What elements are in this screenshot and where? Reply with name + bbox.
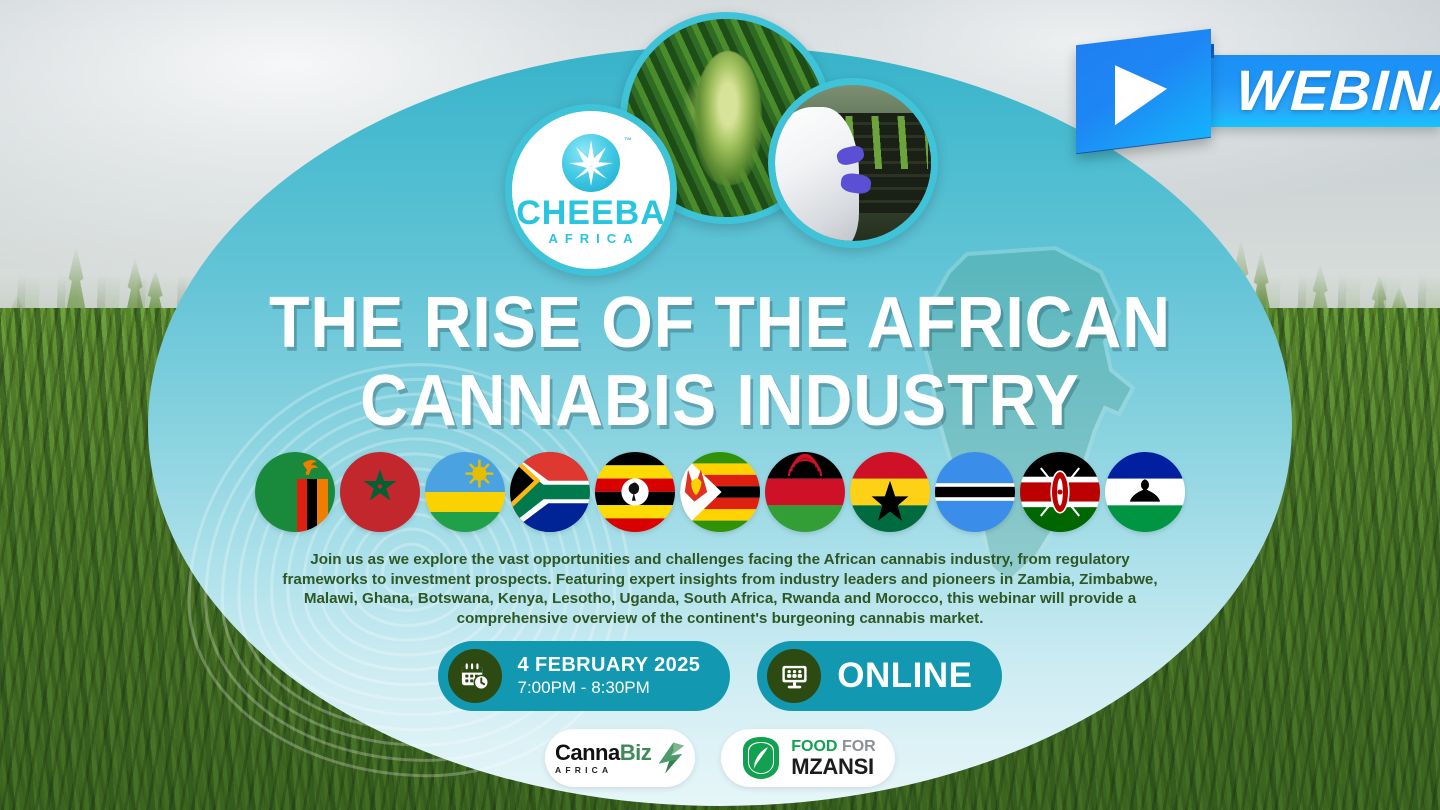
play-triangle-icon	[1115, 59, 1167, 125]
description-text: Join us as we explore the vast opportuni…	[280, 550, 1160, 628]
title-line-2: CANNABIS INDUSTRY	[196, 362, 1245, 440]
cannabis-leaf-star-icon: ™	[562, 134, 620, 192]
webinar-poster: WEBINAR	[0, 0, 1440, 810]
flag-botswana	[935, 452, 1015, 532]
format-label: ONLINE	[837, 656, 972, 696]
webinar-ribbon: WEBINAR	[1068, 22, 1440, 147]
event-date: 4 FEBRUARY 2025	[518, 654, 701, 677]
flag-rwanda	[425, 452, 505, 532]
event-badges: 4 FEBRUARY 2025 7:00PM - 8:30PM	[150, 641, 1290, 711]
date-badge: 4 FEBRUARY 2025 7:00PM - 8:30PM	[438, 641, 731, 711]
flag-malawi	[765, 452, 845, 532]
lab-technician-photo	[768, 78, 938, 248]
cannabiz-wordmark: CannaBiz	[555, 741, 651, 764]
event-time: 7:00PM - 8:30PM	[518, 677, 701, 698]
cheeba-africa-logo: ™ CHEEBA AFRICA	[505, 104, 677, 276]
video-conference-monitor-icon	[767, 649, 821, 703]
leaf-bolt-icon	[657, 738, 685, 778]
sponsor-logos: CannaBiz AFRICA FOOD	[150, 729, 1290, 787]
cannabiz-part2: Biz	[620, 740, 652, 765]
country-flags-row	[150, 452, 1290, 532]
trademark-symbol: ™	[624, 136, 632, 145]
flag-uganda	[595, 452, 675, 532]
food-for-mzansi-logo: FOOD FOR MZANSI	[721, 729, 895, 787]
format-badge: ONLINE	[757, 641, 1002, 711]
cannabiz-sub: AFRICA	[555, 764, 612, 776]
mzansi-part1: FOOD	[791, 738, 837, 755]
calendar-clock-icon	[448, 649, 502, 703]
logo-region-text: AFRICA	[548, 230, 639, 247]
flag-kenya	[1020, 452, 1100, 532]
flag-zambia	[255, 452, 335, 532]
leaf-shield-icon	[740, 735, 782, 781]
cannabiz-africa-logo: CannaBiz AFRICA	[545, 729, 695, 787]
mzansi-part2: FOR	[842, 738, 876, 755]
flag-lesotho	[1105, 452, 1185, 532]
flag-ghana	[850, 452, 930, 532]
page-title: THE RISE OF THE AFRICAN CANNABIS INDUSTR…	[196, 284, 1245, 440]
plant-bud	[694, 51, 761, 186]
cannabiz-part1: Canna	[555, 740, 620, 765]
flag-zimbabwe	[680, 452, 760, 532]
mzansi-line2: MZANSI	[791, 755, 874, 778]
title-line-1: THE RISE OF THE AFRICAN	[196, 284, 1245, 362]
webinar-label: WEBINAR	[1234, 58, 1440, 124]
flag-south-africa	[510, 452, 590, 532]
logo-brand-text: CHEEBA	[516, 196, 666, 230]
flag-morocco	[340, 452, 420, 532]
